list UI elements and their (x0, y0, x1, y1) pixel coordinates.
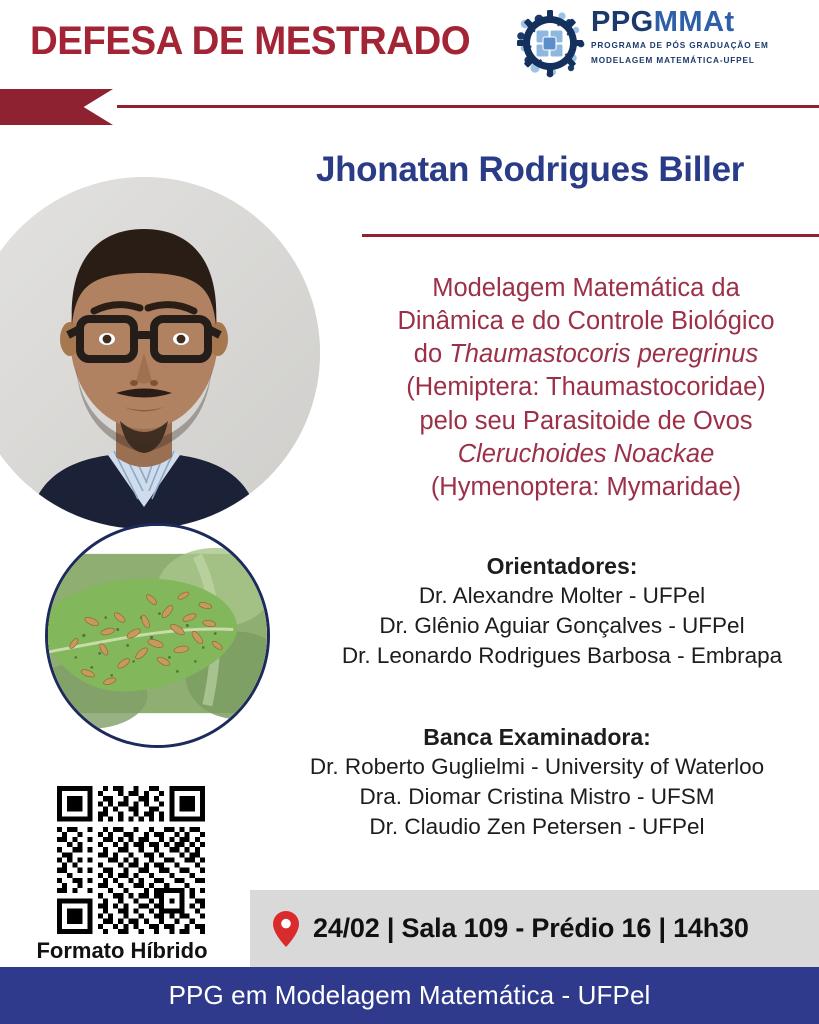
logo-title-part2: MMAt (654, 6, 735, 38)
thesis-line-3-prefix: do (414, 340, 449, 368)
qr-code-icon[interactable] (57, 786, 205, 934)
examination-board-section: Banca Examinadora: Dr. Roberto Guglielmi… (262, 723, 812, 842)
ribbon-decoration (0, 89, 113, 125)
inset-leaf-image (45, 523, 270, 748)
thesis-species-primary: Thaumastocoris peregrinus (449, 340, 758, 368)
footer-bar: PPG em Modelagem Matemática - UFPel (0, 967, 819, 1024)
advisors-section: Orientadores: Dr. Alexandre Molter - UFP… (312, 552, 812, 671)
location-pin-icon (273, 911, 299, 947)
logo-title-part1: PPG (591, 6, 654, 38)
board-member-item: Dr. Claudio Zen Petersen - UFPel (262, 812, 812, 842)
event-details-text: 24/02 | Sala 109 - Prédio 16 | 14h30 (313, 913, 749, 944)
thesis-line-2: Dinâmica e do Controle Biológico (360, 305, 812, 338)
poster-root: DEFESA DE MESTRADO (0, 0, 819, 1024)
board-heading: Banca Examinadora: (262, 723, 812, 752)
footer-text: PPG em Modelagem Matemática - UFPel (169, 980, 651, 1011)
advisor-item: Dr. Leonardo Rodrigues Barbosa - Embrapa (312, 641, 812, 671)
event-details-bar: 24/02 | Sala 109 - Prédio 16 | 14h30 (250, 890, 819, 967)
qr-section: Formato Híbrido (46, 786, 216, 964)
candidate-name: Jhonatan Rodrigues Biller (250, 150, 810, 190)
logo-title: PPGMMAt (591, 8, 805, 37)
advisor-item: Dr. Alexandre Molter - UFPel (312, 581, 812, 611)
thesis-line-3: do Thaumastocoris peregrinus (360, 338, 812, 371)
thesis-line-5: pelo seu Parasitoide de Ovos (360, 405, 812, 438)
page-title: DEFESA DE MESTRADO (30, 19, 470, 64)
thesis-title: Modelagem Matemática da Dinâmica e do Co… (360, 272, 812, 504)
gear-puzzle-icon (515, 8, 585, 78)
thesis-line-7: (Hymenoptera: Mymaridae) (360, 471, 812, 504)
qr-caption: Formato Híbrido (28, 938, 216, 964)
logo-wordmark: PPGMMAt Programa de Pós Graduação em Mod… (591, 8, 805, 67)
ppgmmat-logo: PPGMMAt Programa de Pós Graduação em Mod… (515, 6, 805, 78)
advisors-heading: Orientadores: (312, 552, 812, 581)
logo-subtitle-line1: Programa de Pós Graduação em (591, 40, 805, 52)
logo-subtitle-line2: Modelagem Matemática-UFPel (591, 55, 805, 67)
candidate-photo (0, 177, 320, 529)
board-member-item: Dra. Diomar Cristina Mistro - UFSM (262, 782, 812, 812)
board-member-item: Dr. Roberto Guglielmi - University of Wa… (262, 752, 812, 782)
advisor-item: Dr. Glênio Aguiar Gonçalves - UFPel (312, 611, 812, 641)
thesis-line-1: Modelagem Matemática da (360, 272, 812, 305)
name-divider (362, 234, 819, 237)
thesis-line-4: (Hemiptera: Thaumastocoridae) (360, 371, 812, 404)
header-divider (117, 105, 819, 108)
thesis-species-secondary: Cleruchoides Noackae (360, 438, 812, 471)
